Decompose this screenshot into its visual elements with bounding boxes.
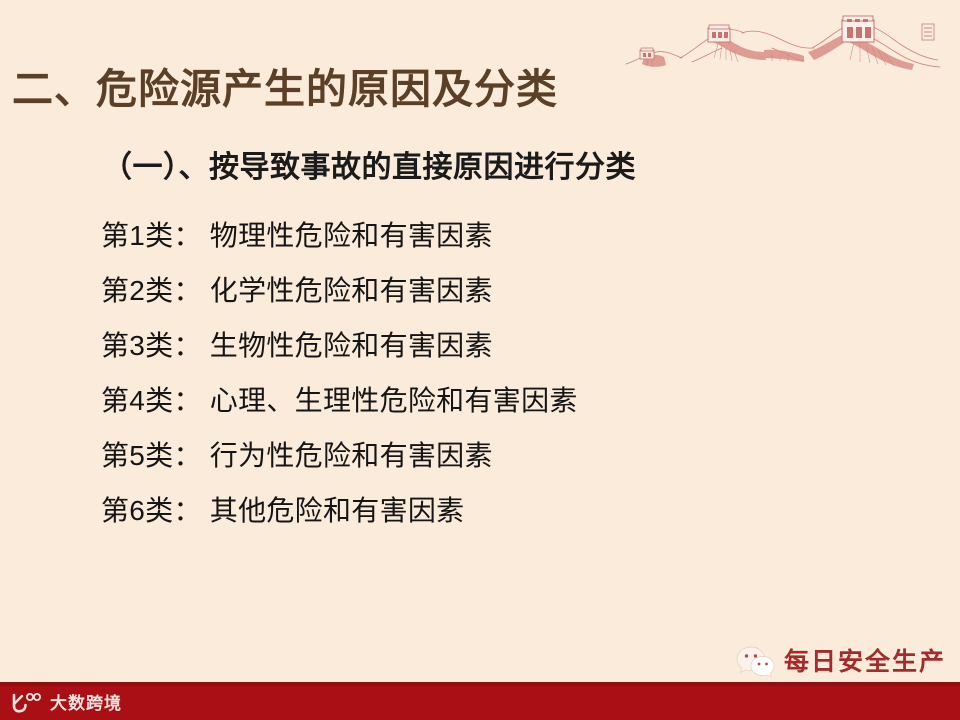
category-text: 心理、生理性危险和有害因素 (202, 387, 578, 415)
list-item: 第1类：物理性危险和有害因素 (101, 222, 801, 250)
brand-logo: 大数跨境 (10, 690, 122, 716)
slide-canvas: 二、危险源产生的原因及分类 （一）、按导致事故的直接原因进行分类 第1类：物理性… (0, 0, 960, 720)
wechat-icon (736, 645, 776, 679)
category-text: 其他危险和有害因素 (202, 497, 465, 525)
category-label: 第4类： (101, 387, 202, 415)
category-list: 第1类：物理性危险和有害因素 第2类：化学性危险和有害因素 第3类：生物性危险和… (101, 222, 801, 525)
category-label: 第2类： (101, 277, 202, 305)
brand-name: 大数跨境 (50, 695, 122, 712)
list-item: 第4类：心理、生理性危险和有害因素 (101, 387, 801, 415)
list-item: 第6类：其他危险和有害因素 (101, 497, 801, 525)
category-text: 物理性危险和有害因素 (202, 222, 493, 250)
wechat-watermark: 每日安全生产 (736, 642, 946, 682)
great-wall-illustration-icon (622, 2, 952, 82)
footer-band: 大数跨境 (0, 686, 960, 720)
category-text: 生物性危险和有害因素 (202, 332, 493, 360)
wechat-account-name: 每日安全生产 (784, 650, 946, 675)
list-item: 第2类：化学性危险和有害因素 (101, 277, 801, 305)
page-title: 二、危险源产生的原因及分类 (12, 65, 558, 114)
k100-logo-mark-icon (10, 692, 44, 714)
section-subtitle: （一）、按导致事故的直接原因进行分类 (102, 150, 636, 186)
category-label: 第3类： (101, 332, 202, 360)
category-text: 行为性危险和有害因素 (202, 442, 493, 470)
category-label: 第5类： (101, 442, 202, 470)
list-item: 第5类：行为性危险和有害因素 (101, 442, 801, 470)
category-label: 第1类： (101, 222, 202, 250)
category-label: 第6类： (101, 497, 202, 525)
category-text: 化学性危险和有害因素 (202, 277, 493, 305)
list-item: 第3类：生物性危险和有害因素 (101, 332, 801, 360)
